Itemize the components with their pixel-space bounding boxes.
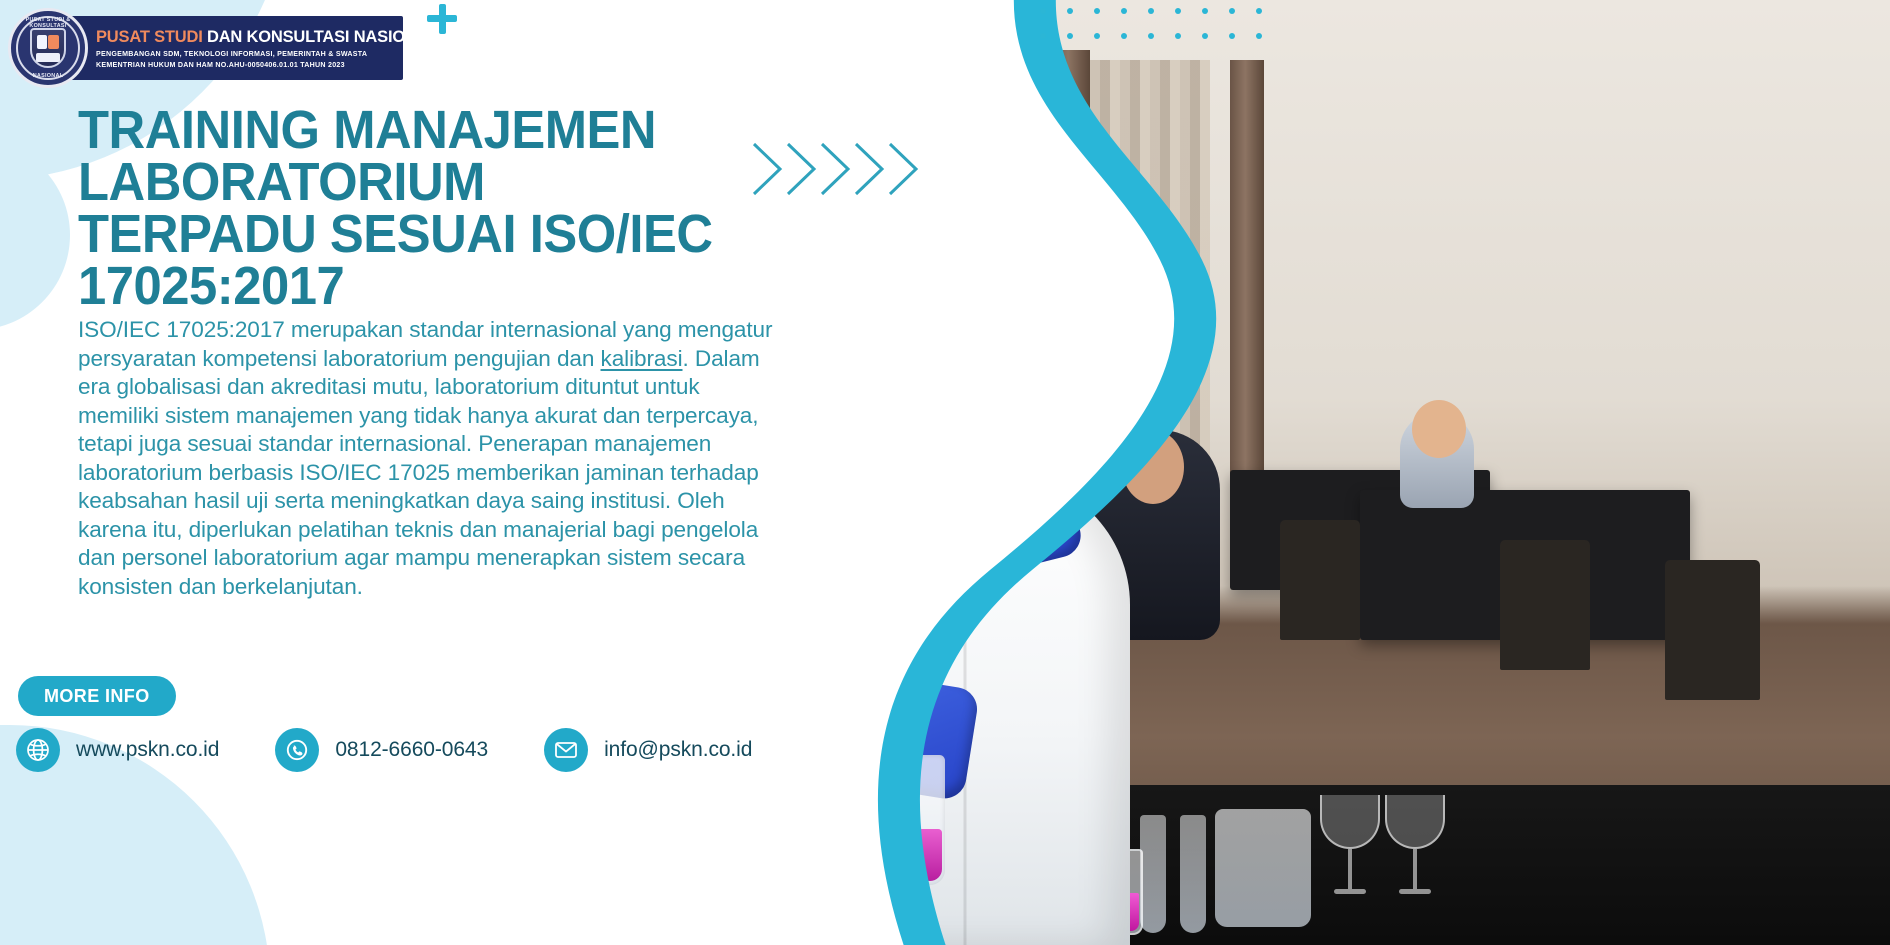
phone-icon [275,728,319,772]
plus-marker-icon [427,4,457,34]
chair [1280,520,1360,640]
contact-bar: www.pskn.co.id 0812-6660-0643 info@pskn.… [16,722,752,778]
title-line-4: 17025:2017 [78,260,755,312]
wine-glass [1320,795,1380,905]
body-paragraph: ISO/IEC 17025:2017 merupakan standar int… [78,316,778,601]
page-title: TRAINING MANAJEMEN LABORATORIUM TERPADU … [78,104,755,312]
body-text-part2: . Dalam era globalisasi dan akreditasi m… [78,346,760,599]
chair [1665,560,1760,700]
brand-name: PUSAT STUDI DAN KONSULTASI NASIONAL [96,28,403,47]
dot-grid-decoration [1040,8,1290,54]
chair [1500,540,1590,670]
phone-label: 0812-6660-0643 [335,738,488,762]
email-label: info@pskn.co.id [604,738,752,762]
pskn-logo: PUSAT STUDI & KONSULTASI NASIONAL [8,8,88,88]
title-line-3: TERPADU SESUAI ISO/IEC [78,208,755,260]
poster-canvas: PUSAT STUDI DAN KONSULTASI NASIONAL PENG… [0,0,1890,945]
brand-subtitle: PENGEMBANGAN SDM, TEKNOLOGI INFORMASI, P… [96,50,403,58]
brand-header-bar: PUSAT STUDI DAN KONSULTASI NASIONAL PENG… [60,16,403,80]
logo-crest-icon [30,28,66,68]
chevron-right-icon [748,138,928,200]
contact-website[interactable]: www.pskn.co.id [16,728,219,772]
brand-name-highlight: PUSAT STUDI [96,28,203,46]
brand-name-rest: DAN KONSULTASI NASIONAL [207,28,403,46]
participant-head [1412,400,1466,458]
more-info-button[interactable]: MORE INFO [18,676,176,716]
kalibrasi-link[interactable]: kalibrasi [601,346,683,371]
contact-email[interactable]: info@pskn.co.id [544,728,752,772]
envelope-icon [544,728,588,772]
brand-legal-line: KEMENTRIAN HUKUM DAN HAM NO.AHU-0050406.… [96,61,403,69]
contact-phone[interactable]: 0812-6660-0643 [275,728,488,772]
wine-glass [1385,795,1445,905]
title-line-2: LABORATORIUM [78,156,755,208]
logo-bottom-text: NASIONAL [11,73,85,79]
website-label: www.pskn.co.id [76,738,219,762]
title-line-1: TRAINING MANAJEMEN [78,104,755,156]
globe-icon [16,728,60,772]
